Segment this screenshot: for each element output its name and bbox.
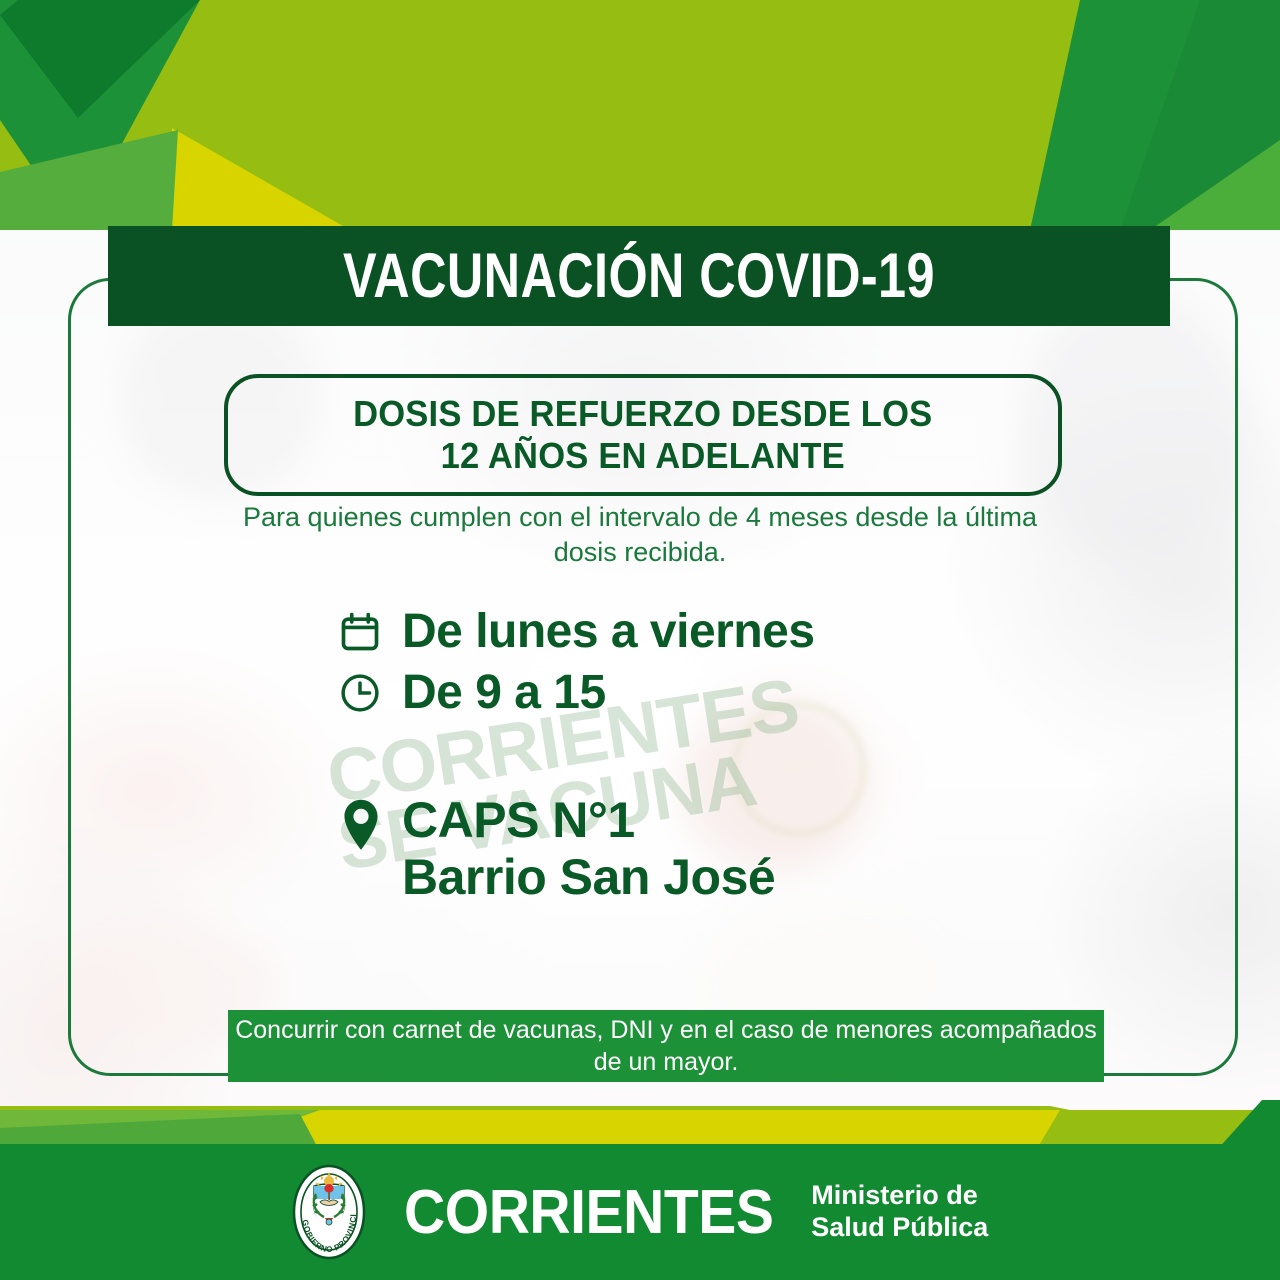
brand-name: CORRIENTES [404, 1177, 773, 1248]
schedule-days-label: De lunes a viernes [402, 604, 815, 661]
subtitle-pill: DOSIS DE REFUERZO DESDE LOS 12 AÑOS EN A… [224, 374, 1062, 496]
page-title: VACUNACIÓN COVID-19 [343, 240, 935, 312]
government-emblem-icon: GOBIERNO PROVINCIAL [292, 1164, 366, 1260]
title-bar: VACUNACIÓN COVID-19 [108, 226, 1170, 326]
subtitle-text: DOSIS DE REFUERZO DESDE LOS 12 AÑOS EN A… [353, 393, 932, 478]
schedule-hours-label: De 9 a 15 [402, 665, 606, 722]
calendar-icon [338, 610, 382, 654]
note-band: Concurrir con carnet de vacunas, DNI y e… [228, 1010, 1104, 1082]
location-pin-icon [338, 798, 384, 852]
schedule-block: De lunes a viernes De 9 a 15 [338, 604, 815, 725]
schedule-row-hours: De 9 a 15 [338, 665, 815, 722]
poster-root: CORRIENTES SE VACUNA VACUNACIÓN COVID-19… [0, 0, 1280, 1280]
note-text: Concurrir con carnet de vacunas, DNI y e… [228, 1014, 1104, 1079]
ministry-name: Ministerio de Salud Pública [811, 1180, 988, 1244]
lead-paragraph: Para quienes cumplen con el intervalo de… [240, 500, 1040, 569]
footer: GOBIERNO PROVINCIAL CORRIENTES Ministeri… [0, 1144, 1280, 1280]
place-label: CAPS N°1 Barrio San José [402, 792, 775, 906]
clock-icon [338, 671, 382, 715]
schedule-row-days: De lunes a viernes [338, 604, 815, 661]
place-block: CAPS N°1 Barrio San José [338, 792, 775, 906]
